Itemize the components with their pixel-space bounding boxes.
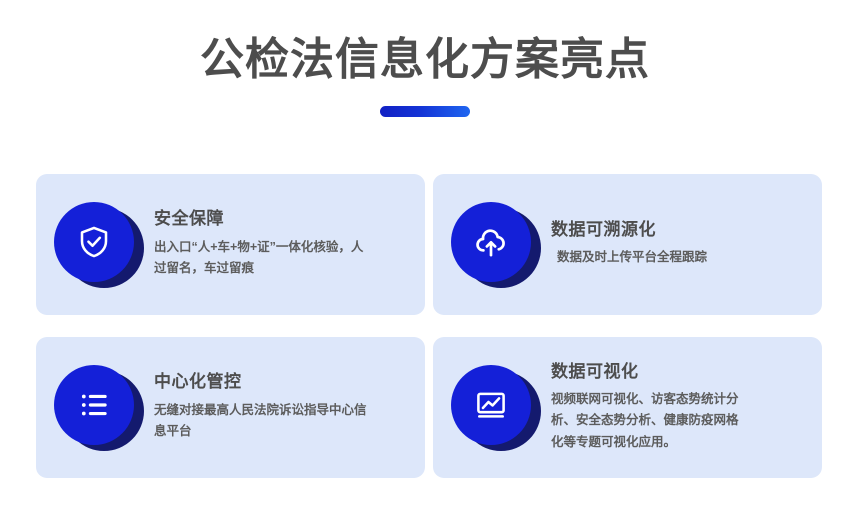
cloud-upload-icon [472,223,510,261]
highlight-card[interactable]: 安全保障 出入口“人+车+物+证”一体化核验，人过留名，车过留痕 [36,174,425,315]
highlight-card[interactable]: 中心化管控 无缝对接最高人民法院诉讼指导中心信息平台 [36,337,425,478]
page-header: 公检法信息化方案亮点 [0,0,850,117]
card-heading: 数据可溯源化 [551,220,812,240]
highlight-card[interactable]: 数据可溯源化 数据及时上传平台全程跟踪 [433,174,822,315]
card-body: 无缝对接最高人民法院诉讼指导中心信息平台 [154,400,369,443]
highlight-card[interactable]: 数据可视化 视频联网可视化、访客态势统计分析、安全态势分析、健康防疫网格化等专题… [433,337,822,478]
card-body: 出入口“人+车+物+证”一体化核验，人过留名，车过留痕 [154,237,369,280]
card-text: 安全保障 出入口“人+车+物+证”一体化核验，人过留名，车过留痕 [154,209,425,279]
icon-circle [451,365,531,445]
page-title: 公检法信息化方案亮点 [0,34,850,86]
card-body: 数据及时上传平台全程跟踪 [551,247,812,269]
title-underline-bar [380,106,470,117]
card-heading: 数据可视化 [551,362,812,382]
card-heading: 中心化管控 [154,372,415,392]
card-body: 视频联网可视化、访客态势统计分析、安全态势分析、健康防疫网格化等专题可视化应用。 [551,389,747,454]
highlight-card-grid: 安全保障 出入口“人+车+物+证”一体化核验，人过留名，车过留痕 [36,174,822,478]
icon-badge [451,202,537,288]
card-text: 数据可视化 视频联网可视化、访客态势统计分析、安全态势分析、健康防疫网格化等专题… [551,362,822,454]
icon-badge [451,365,537,451]
icon-circle [54,365,134,445]
chart-monitor-icon [473,387,509,423]
shield-check-icon [76,224,112,260]
highlights-page: 公检法信息化方案亮点 安全保障 出入口“人+车+物+证”一体化核验，人 [0,0,850,516]
icon-badge [54,202,140,288]
card-text: 数据可溯源化 数据及时上传平台全程跟踪 [551,220,822,269]
icon-circle [451,202,531,282]
card-heading: 安全保障 [154,209,415,229]
icon-circle [54,202,134,282]
card-text: 中心化管控 无缝对接最高人民法院诉讼指导中心信息平台 [154,372,425,442]
icon-badge [54,365,140,451]
bullet-list-icon [76,387,112,423]
